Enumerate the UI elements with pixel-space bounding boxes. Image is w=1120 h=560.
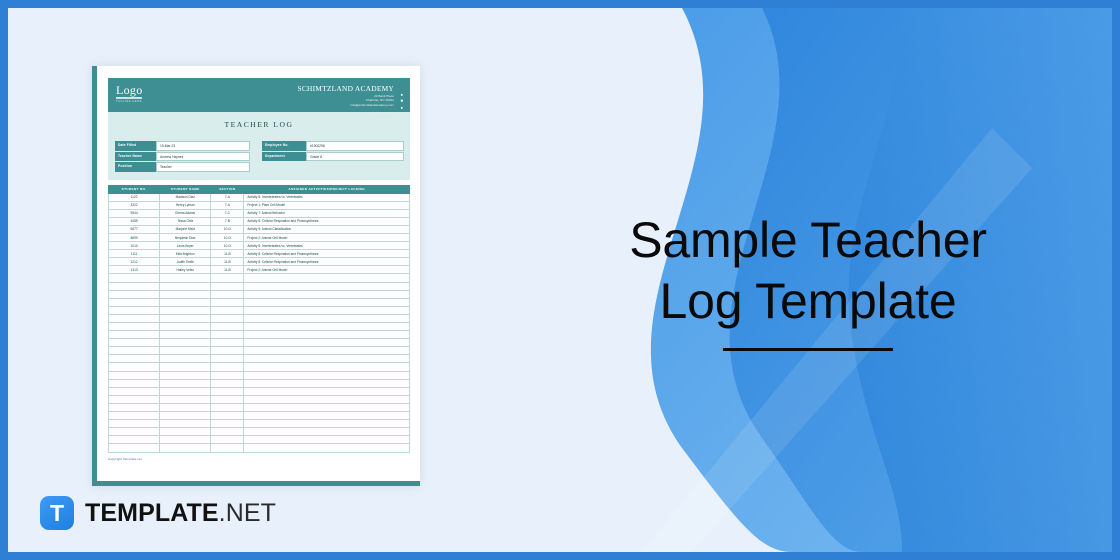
document-footer-copyright[interactable]: Copyright Template.net bbox=[108, 457, 410, 461]
table-row[interactable]: 1010Linus Boyer10-DActivity 6: Invertebr… bbox=[109, 242, 410, 250]
cell-student-no: 4455 bbox=[109, 217, 160, 225]
cell-empty bbox=[244, 339, 410, 347]
table-body: 1122Madison Diaz7-AActivity 6: Invertebr… bbox=[109, 193, 410, 452]
table-row-empty[interactable] bbox=[109, 323, 410, 331]
table-row-empty[interactable] bbox=[109, 339, 410, 347]
cell-empty bbox=[244, 395, 410, 403]
cell-student-no: 1212 bbox=[109, 258, 160, 266]
cell-empty bbox=[211, 306, 244, 314]
column-header-student-name: STUDENT NAME bbox=[160, 185, 211, 193]
cell-empty bbox=[160, 331, 211, 339]
cell-empty bbox=[211, 298, 244, 306]
wordmark-template: TEMPLATE bbox=[85, 499, 219, 527]
cell-empty bbox=[211, 323, 244, 331]
column-header-student-no: STUDENT NO. bbox=[109, 185, 160, 193]
info-label: Teacher Name bbox=[115, 152, 156, 162]
cell-empty bbox=[160, 379, 211, 387]
cell-empty bbox=[109, 379, 160, 387]
info-label: Date Filled bbox=[115, 141, 156, 151]
document-title-band: TEACHER LOG bbox=[108, 112, 410, 137]
cell-student-name: Henry Lyman bbox=[160, 201, 211, 209]
table-row-empty[interactable] bbox=[109, 436, 410, 444]
info-label: Employee No. bbox=[262, 141, 306, 151]
table-row-empty[interactable] bbox=[109, 420, 410, 428]
cell-empty bbox=[244, 331, 410, 339]
info-row: Teacher NameAndrew Haynes bbox=[115, 152, 250, 162]
table-row-empty[interactable] bbox=[109, 395, 410, 403]
table-row-empty[interactable] bbox=[109, 403, 410, 411]
cell-empty bbox=[109, 420, 160, 428]
cell-empty bbox=[109, 387, 160, 395]
cell-empty bbox=[160, 298, 211, 306]
cell-empty bbox=[211, 436, 244, 444]
cell-student-no: 1122 bbox=[109, 193, 160, 201]
cell-activity: Activity 8: Cellular Respiration and Pho… bbox=[244, 258, 410, 266]
logo-text: Logo bbox=[116, 84, 143, 96]
cell-empty bbox=[244, 274, 410, 282]
cell-empty bbox=[244, 290, 410, 298]
column-header-section: SECTION bbox=[211, 185, 244, 193]
document-body: Logo TAGLINE HERE SCHIMTZLAND ACADEMY 22… bbox=[97, 66, 420, 481]
table-row[interactable]: 4455Tessa Ortiz7-BActivity 8: Cellular R… bbox=[109, 217, 410, 225]
table-row-empty[interactable] bbox=[109, 379, 410, 387]
table-row[interactable]: 1313Hailey Velez11-BProject 2: Animal Ce… bbox=[109, 266, 410, 274]
table-row-empty[interactable] bbox=[109, 355, 410, 363]
envelope-icon: ■ bbox=[400, 99, 403, 103]
table-row-empty[interactable] bbox=[109, 282, 410, 290]
info-fields-left: Date Filled15-Mar-23Teacher NameAndrew H… bbox=[115, 141, 250, 173]
cell-empty bbox=[109, 444, 160, 452]
cell-student-name: Emma Adams bbox=[160, 209, 211, 217]
cell-empty bbox=[109, 298, 160, 306]
table-row[interactable]: 1212Judith Smith11-BActivity 8: Cellular… bbox=[109, 258, 410, 266]
cell-empty bbox=[244, 444, 410, 452]
title-underline-rule bbox=[723, 348, 893, 351]
cell-student-name: Marjorie Mela bbox=[160, 225, 211, 233]
school-address: 22 Bank Place bbox=[297, 94, 394, 98]
cell-section: 10-D bbox=[211, 242, 244, 250]
table-row-empty[interactable] bbox=[109, 314, 410, 322]
cell-empty bbox=[160, 412, 211, 420]
logo-tagline: TAGLINE HERE bbox=[116, 100, 143, 103]
cell-empty bbox=[211, 339, 244, 347]
school-phone: (+1) 222 333 4444 bbox=[297, 111, 394, 115]
cell-empty bbox=[211, 363, 244, 371]
cell-empty bbox=[109, 395, 160, 403]
wordmark-net: .NET bbox=[219, 499, 276, 527]
school-email: info@schimtzlandacademy.com bbox=[297, 103, 394, 107]
cell-student-name: Madison Diaz bbox=[160, 193, 211, 201]
cell-empty bbox=[160, 274, 211, 282]
cell-empty bbox=[160, 314, 211, 322]
cell-empty bbox=[211, 355, 244, 363]
table-row-empty[interactable] bbox=[109, 298, 410, 306]
table-row-empty[interactable] bbox=[109, 347, 410, 355]
cell-empty bbox=[211, 282, 244, 290]
cell-student-name: Judith Smith bbox=[160, 258, 211, 266]
cell-empty bbox=[109, 412, 160, 420]
cell-empty bbox=[109, 274, 160, 282]
cell-empty bbox=[211, 420, 244, 428]
cell-student-name: Linus Boyer bbox=[160, 242, 211, 250]
teacher-log-table: STUDENT NO. STUDENT NAME SECTION ASSIGNE… bbox=[108, 185, 410, 453]
table-row[interactable]: 3322Henry Lyman7-AProject 1: Plant Cell … bbox=[109, 201, 410, 209]
cell-empty bbox=[211, 412, 244, 420]
table-row[interactable]: 1122Madison Diaz7-AActivity 6: Invertebr… bbox=[109, 193, 410, 201]
cell-empty bbox=[109, 290, 160, 298]
table-row-empty[interactable] bbox=[109, 371, 410, 379]
cell-student-no: 1313 bbox=[109, 266, 160, 274]
cell-empty bbox=[244, 363, 410, 371]
cell-section: 10-D bbox=[211, 233, 244, 241]
cell-empty bbox=[160, 347, 211, 355]
cell-empty bbox=[211, 274, 244, 282]
logo-underline bbox=[116, 97, 142, 99]
cell-section: 11-B bbox=[211, 266, 244, 274]
cell-section: 7-A bbox=[211, 193, 244, 201]
cell-section: 11-B bbox=[211, 250, 244, 258]
table-row-empty[interactable] bbox=[109, 444, 410, 452]
template-net-mark-icon: T bbox=[40, 496, 74, 530]
table-row-empty[interactable] bbox=[109, 331, 410, 339]
cell-empty bbox=[160, 436, 211, 444]
info-row: PositionTeacher bbox=[115, 162, 250, 172]
cell-student-name: Benjamin Diaz bbox=[160, 233, 211, 241]
school-city: Charlotte, NC 28202 bbox=[297, 98, 394, 102]
cell-empty bbox=[211, 428, 244, 436]
cell-empty bbox=[109, 282, 160, 290]
promo-banner: Sample Teacher Log Template Logo TAGLINE… bbox=[8, 8, 1112, 552]
cell-empty bbox=[244, 314, 410, 322]
cell-section: 11-B bbox=[211, 258, 244, 266]
cell-empty bbox=[109, 355, 160, 363]
cell-empty bbox=[109, 347, 160, 355]
cell-empty bbox=[160, 355, 211, 363]
cell-section: 7-B bbox=[211, 217, 244, 225]
cell-empty bbox=[211, 395, 244, 403]
cell-empty bbox=[160, 444, 211, 452]
location-pin-icon: ● bbox=[400, 93, 403, 97]
promo-title-line-1: Sample Teacher bbox=[629, 210, 987, 271]
cell-section: 7-C bbox=[211, 209, 244, 217]
info-label: Department bbox=[262, 152, 306, 162]
cell-empty bbox=[244, 323, 410, 331]
cell-empty bbox=[109, 314, 160, 322]
title-block: Sample Teacher Log Template bbox=[629, 210, 987, 351]
info-row: Date Filled15-Mar-23 bbox=[115, 141, 250, 151]
cell-empty bbox=[109, 371, 160, 379]
table-row-empty[interactable] bbox=[109, 274, 410, 282]
table-row[interactable]: 8899Benjamin Diaz10-DProject 2: Animal C… bbox=[109, 233, 410, 241]
cell-empty bbox=[211, 331, 244, 339]
table-row-empty[interactable] bbox=[109, 387, 410, 395]
cell-empty bbox=[244, 428, 410, 436]
cell-empty bbox=[211, 314, 244, 322]
cell-student-no: 5544 bbox=[109, 209, 160, 217]
cell-empty bbox=[160, 290, 211, 298]
letterhead-icon-column: ● ■ ● bbox=[400, 93, 403, 110]
cell-empty bbox=[109, 331, 160, 339]
cell-empty bbox=[109, 436, 160, 444]
cell-empty bbox=[109, 363, 160, 371]
cell-empty bbox=[109, 323, 160, 331]
cell-empty bbox=[244, 403, 410, 411]
table-row[interactable]: 1111Mila Brighton11-BActivity 8: Cellula… bbox=[109, 250, 410, 258]
cell-empty bbox=[244, 347, 410, 355]
cell-empty bbox=[244, 420, 410, 428]
cell-empty bbox=[244, 387, 410, 395]
document-title: TEACHER LOG bbox=[224, 120, 293, 129]
table-row[interactable]: 5544Emma Adams7-CActivity 7: Animal Beha… bbox=[109, 209, 410, 217]
cell-empty bbox=[211, 379, 244, 387]
cell-empty bbox=[244, 379, 410, 387]
letterhead-logo: Logo TAGLINE HERE bbox=[116, 84, 143, 103]
promo-title-line-2: Log Template bbox=[629, 271, 987, 332]
template-net-logo[interactable]: T TEMPLATE.NET bbox=[40, 496, 276, 530]
cell-empty bbox=[244, 436, 410, 444]
cell-empty bbox=[160, 420, 211, 428]
template-net-wordmark: TEMPLATE.NET bbox=[85, 499, 276, 528]
cell-empty bbox=[211, 387, 244, 395]
table-row-empty[interactable] bbox=[109, 412, 410, 420]
cell-empty bbox=[211, 371, 244, 379]
cell-empty bbox=[244, 355, 410, 363]
info-value[interactable]: #1900298 bbox=[306, 141, 404, 151]
cell-empty bbox=[160, 363, 211, 371]
info-value[interactable]: Grade 8 bbox=[306, 152, 404, 162]
cell-student-no: 8899 bbox=[109, 233, 160, 241]
cell-activity: Activity 8: Cellular Respiration and Pho… bbox=[244, 250, 410, 258]
school-name: SCHIMTZLAND ACADEMY bbox=[297, 84, 394, 93]
cell-empty bbox=[160, 339, 211, 347]
cell-empty bbox=[211, 347, 244, 355]
cell-empty bbox=[160, 387, 211, 395]
table-row[interactable]: 6677Marjorie Mela10-DActivity 5: Animal … bbox=[109, 225, 410, 233]
cell-student-name: Tessa Ortiz bbox=[160, 217, 211, 225]
cell-student-no: 1010 bbox=[109, 242, 160, 250]
teacher-log-document-preview[interactable]: Logo TAGLINE HERE SCHIMTZLAND ACADEMY 22… bbox=[92, 66, 420, 486]
cell-activity: Activity 7: Animal Behavior bbox=[244, 209, 410, 217]
info-value[interactable]: 15-Mar-23 bbox=[156, 141, 250, 151]
table-row-empty[interactable] bbox=[109, 306, 410, 314]
cell-empty bbox=[160, 306, 211, 314]
cell-activity: Project 1: Plant Cell Model bbox=[244, 201, 410, 209]
cell-student-no: 6677 bbox=[109, 225, 160, 233]
cell-empty bbox=[109, 428, 160, 436]
info-value[interactable]: Andrew Haynes bbox=[156, 152, 250, 162]
letterhead-contact-block: SCHIMTZLAND ACADEMY 22 Bank Place Charlo… bbox=[297, 84, 403, 115]
cell-student-name: Hailey Velez bbox=[160, 266, 211, 274]
promo-title-area: Sample Teacher Log Template bbox=[528, 8, 1088, 552]
info-value[interactable]: Teacher bbox=[156, 162, 250, 172]
cell-section: 10-D bbox=[211, 225, 244, 233]
cell-empty bbox=[244, 282, 410, 290]
cell-activity: Activity 5: Animal Classification bbox=[244, 225, 410, 233]
cell-empty bbox=[160, 403, 211, 411]
table-row-empty[interactable] bbox=[109, 363, 410, 371]
info-fields-right: Employee No.#1900298DepartmentGrade 8 bbox=[262, 141, 404, 173]
column-header-activities: ASSIGNED ACTIVITIES/PROJECT LACKING bbox=[244, 185, 410, 193]
cell-empty bbox=[211, 290, 244, 298]
cell-empty bbox=[160, 395, 211, 403]
cell-empty bbox=[211, 403, 244, 411]
info-row: Employee No.#1900298 bbox=[262, 141, 404, 151]
table-header-row: STUDENT NO. STUDENT NAME SECTION ASSIGNE… bbox=[109, 185, 410, 193]
cell-empty bbox=[109, 339, 160, 347]
cell-activity: Activity 8: Cellular Respiration and Pho… bbox=[244, 217, 410, 225]
cell-activity: Project 2: Animal Cell Model bbox=[244, 266, 410, 274]
cell-empty bbox=[244, 412, 410, 420]
cell-activity: Activity 6: Invertebrates vs. Vertebrate… bbox=[244, 242, 410, 250]
cell-activity: Project 2: Animal Cell Model bbox=[244, 233, 410, 241]
cell-empty bbox=[244, 306, 410, 314]
cell-empty bbox=[244, 298, 410, 306]
cell-empty bbox=[160, 428, 211, 436]
cell-empty bbox=[109, 403, 160, 411]
document-bottom-accent-bar bbox=[92, 481, 420, 486]
table-row-empty[interactable] bbox=[109, 428, 410, 436]
cell-empty bbox=[211, 444, 244, 452]
cell-empty bbox=[244, 371, 410, 379]
document-info-fields: Date Filled15-Mar-23Teacher NameAndrew H… bbox=[108, 137, 410, 180]
cell-student-no: 3322 bbox=[109, 201, 160, 209]
info-label: Position bbox=[115, 162, 156, 172]
cell-student-no: 1111 bbox=[109, 250, 160, 258]
document-letterhead: Logo TAGLINE HERE SCHIMTZLAND ACADEMY 22… bbox=[108, 78, 410, 112]
table-row-empty[interactable] bbox=[109, 290, 410, 298]
cell-empty bbox=[109, 306, 160, 314]
info-row: DepartmentGrade 8 bbox=[262, 152, 404, 162]
phone-icon: ● bbox=[400, 106, 403, 110]
cell-activity: Activity 6: Invertebrates vs. Vertebrate… bbox=[244, 193, 410, 201]
cell-student-name: Mila Brighton bbox=[160, 250, 211, 258]
cell-empty bbox=[160, 371, 211, 379]
cell-section: 7-A bbox=[211, 201, 244, 209]
cell-empty bbox=[160, 282, 211, 290]
cell-empty bbox=[160, 323, 211, 331]
